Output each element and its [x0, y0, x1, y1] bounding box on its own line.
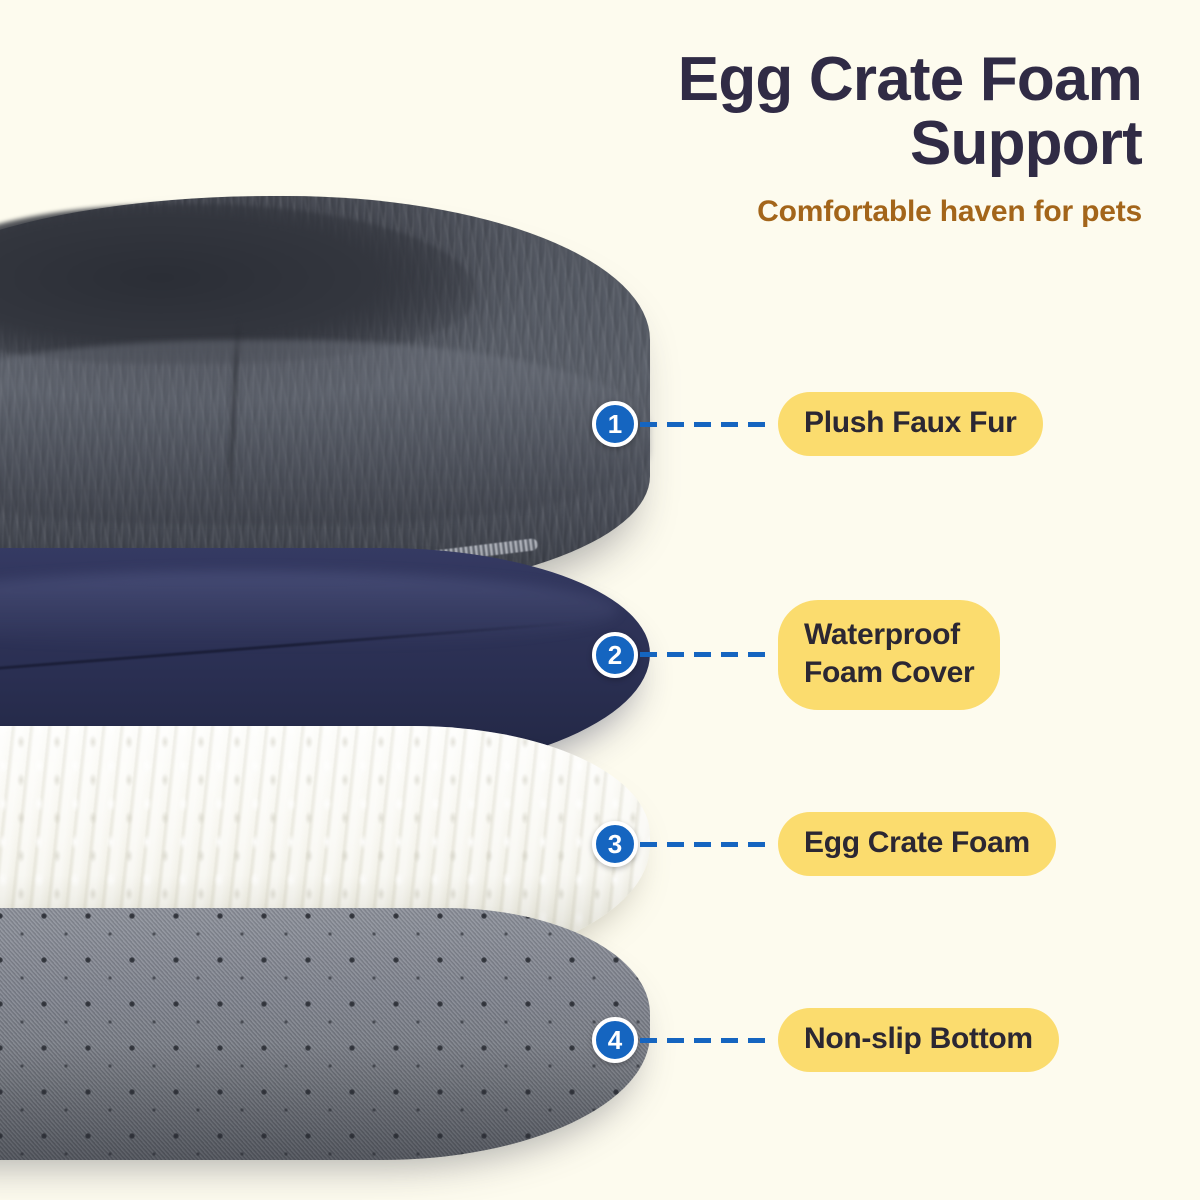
callout-leader-line-2 — [640, 652, 772, 657]
callout-label-2-line-2: Foam Cover — [804, 654, 974, 692]
callout-label-3-line-1: Egg Crate Foam — [804, 826, 1030, 860]
page-subtitle: Comfortable haven for pets — [442, 195, 1142, 229]
bottom-shading — [0, 1044, 650, 1160]
callout-label-1[interactable]: Plush Faux Fur — [778, 392, 1043, 456]
product-layer-non-slip-bottom — [0, 908, 650, 1160]
callout-badge-4[interactable]: 4 — [592, 1017, 638, 1063]
bottom-body-shape — [0, 908, 650, 1160]
callout-label-4-line-1: Non-slip Bottom — [804, 1022, 1033, 1056]
callout-label-2[interactable]: Waterproof Foam Cover — [778, 600, 1000, 710]
callout-4[interactable]: 4 Non-slip Bottom — [592, 1008, 1059, 1072]
callout-label-3[interactable]: Egg Crate Foam — [778, 812, 1056, 876]
header: Egg Crate Foam Support Comfortable haven… — [442, 48, 1142, 229]
callout-badge-3[interactable]: 3 — [592, 821, 638, 867]
callout-leader-line-1 — [640, 422, 772, 427]
page-title-line-2: Support — [442, 112, 1142, 176]
callout-leader-line-3 — [640, 842, 772, 847]
callout-label-2-line-1: Waterproof — [804, 616, 974, 654]
infographic-canvas: Egg Crate Foam Support Comfortable haven… — [0, 0, 1200, 1200]
callout-label-1-line-1: Plush Faux Fur — [804, 406, 1017, 440]
callout-3[interactable]: 3 Egg Crate Foam — [592, 812, 1056, 876]
callout-badge-2[interactable]: 2 — [592, 632, 638, 678]
page-title-line-1: Egg Crate Foam — [442, 48, 1142, 112]
callout-1[interactable]: 1 Plush Faux Fur — [592, 392, 1043, 456]
product-layer-plush-faux-fur — [0, 196, 650, 596]
callout-leader-line-4 — [640, 1038, 772, 1043]
cover-sheen — [0, 571, 618, 649]
callout-badge-1[interactable]: 1 — [592, 401, 638, 447]
callout-label-4[interactable]: Non-slip Bottom — [778, 1008, 1059, 1072]
callout-2[interactable]: 2 Waterproof Foam Cover — [592, 600, 1000, 710]
fur-bolster-roll — [0, 340, 650, 524]
fur-body-shape — [0, 196, 650, 596]
